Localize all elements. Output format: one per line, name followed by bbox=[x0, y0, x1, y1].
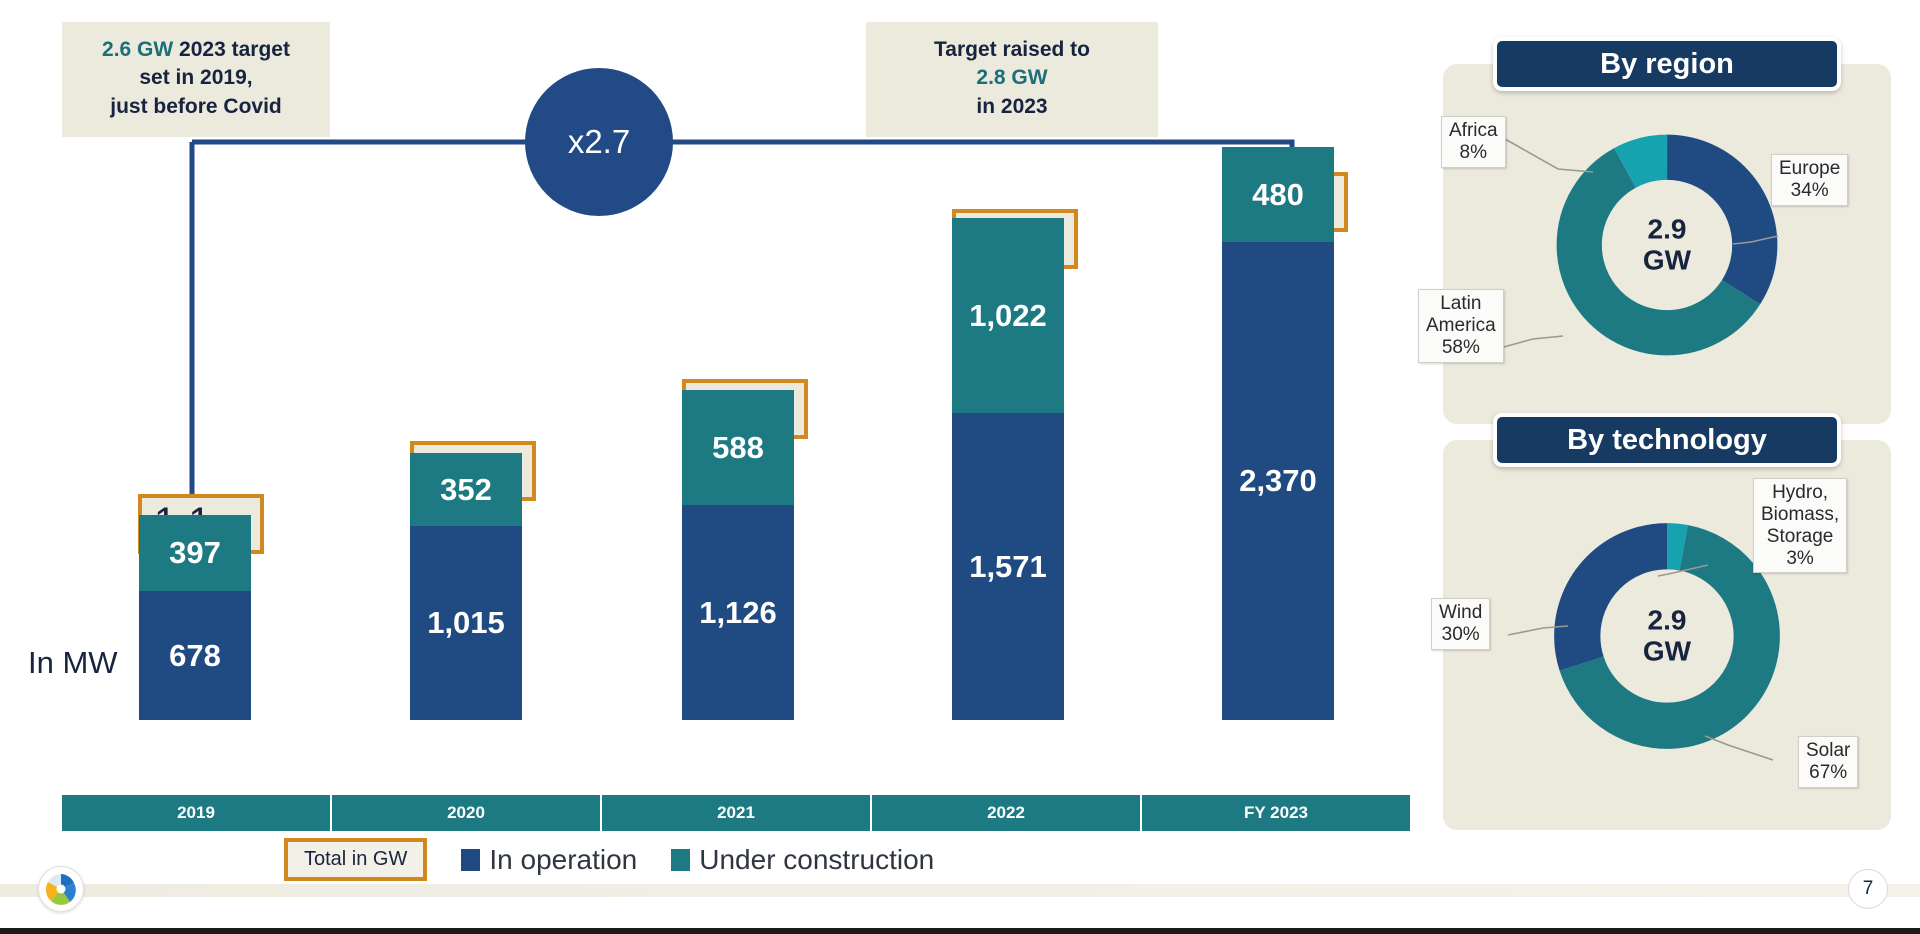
callout-hydro-biomass-storage: Hydro, Biomass, Storage 3% bbox=[1753, 478, 1847, 573]
bar-label-op-2022: 1,571 bbox=[969, 549, 1047, 585]
x-axis-tick-2019: 2019 bbox=[62, 795, 332, 831]
callout-europe-label: Europe bbox=[1779, 158, 1840, 180]
bar-segment-under-construction-2022[interactable]: 1,022 bbox=[952, 218, 1064, 413]
panel-title-by-region: By region bbox=[1493, 37, 1841, 91]
bar-label-op-2019: 678 bbox=[169, 638, 221, 674]
donut-tech-center: 2.9 GW bbox=[1643, 605, 1691, 668]
bar-label-uc-2022: 1,022 bbox=[969, 298, 1047, 334]
footer-bar bbox=[0, 884, 1920, 897]
x-axis-tick-2021: 2021 bbox=[602, 795, 872, 831]
bottom-edge bbox=[0, 928, 1920, 934]
donut-chart-by-region: 2.9 GW bbox=[1534, 112, 1800, 378]
x-axis-tick-fy2023: FY 2023 bbox=[1142, 795, 1410, 831]
bar-label-uc-fy2023: 480 bbox=[1252, 177, 1304, 213]
bar-segment-in-operation-2021[interactable]: 1,126 bbox=[682, 505, 794, 720]
callout-europe: Europe 34% bbox=[1771, 154, 1848, 206]
callout-europe-pct: 34% bbox=[1779, 180, 1840, 202]
bar-segment-in-operation-2020[interactable]: 1,015 bbox=[410, 526, 522, 720]
callout-wind: Wind 30% bbox=[1431, 598, 1490, 650]
donut-region-center: 2.9 GW bbox=[1643, 214, 1691, 277]
bar-stack-fy2023[interactable]: 480 2,370 bbox=[1222, 147, 1334, 720]
callout-africa-pct: 8% bbox=[1449, 142, 1498, 164]
callout-solar-label: Solar bbox=[1806, 740, 1850, 762]
bar-segment-in-operation-2022[interactable]: 1,571 bbox=[952, 413, 1064, 720]
callout-wind-label: Wind bbox=[1439, 602, 1482, 624]
bar-label-uc-2019: 397 bbox=[169, 535, 221, 571]
bar-stack-2021[interactable]: 588 1,126 bbox=[682, 390, 794, 720]
total-in-gw-chip: Total in GW bbox=[284, 838, 427, 881]
bar-segment-in-operation-fy2023[interactable]: 2,370 bbox=[1222, 242, 1334, 720]
bar-stack-2019[interactable]: 397 678 bbox=[139, 515, 251, 720]
callout-africa: Africa 8% bbox=[1441, 116, 1506, 168]
legend-label-under-construction: Under construction bbox=[699, 844, 934, 876]
bar-stack-2022[interactable]: 1,022 1,571 bbox=[952, 218, 1064, 720]
page-number: 7 bbox=[1848, 869, 1888, 909]
x-axis-band: 2019 2020 2021 2022 FY 2023 bbox=[62, 795, 1410, 831]
callout-hydro-l2: Biomass, bbox=[1761, 504, 1839, 526]
x-axis-tick-2020: 2020 bbox=[332, 795, 602, 831]
panel-by-region: By region 2.9 GW Africa 8% bbox=[1443, 64, 1891, 424]
bar-segment-under-construction-2020[interactable]: 352 bbox=[410, 453, 522, 526]
bar-segment-under-construction-2019[interactable]: 397 bbox=[139, 515, 251, 591]
donut-region-center-unit: GW bbox=[1643, 245, 1691, 276]
callout-hydro-l3: Storage bbox=[1761, 526, 1839, 548]
logo-icon bbox=[39, 867, 83, 911]
company-logo bbox=[38, 866, 84, 912]
bar-label-op-2021: 1,126 bbox=[699, 595, 777, 631]
legend-item-in-operation[interactable]: In operation bbox=[461, 844, 637, 876]
bar-stack-2020[interactable]: 352 1,015 bbox=[410, 453, 522, 720]
donut-tech-center-value: 2.9 bbox=[1643, 605, 1691, 636]
slide-root: 2.6 GW 2023 target set in 2019, just bef… bbox=[0, 0, 1920, 934]
callout-solar: Solar 67% bbox=[1798, 736, 1858, 788]
callout-solar-pct: 67% bbox=[1806, 762, 1850, 784]
bar-label-uc-2021: 588 bbox=[712, 430, 764, 466]
legend-label-in-operation: In operation bbox=[489, 844, 637, 876]
x-axis-tick-2022: 2022 bbox=[872, 795, 1142, 831]
callout-hydro-pct: 3% bbox=[1761, 548, 1839, 570]
callout-latam-label1: Latin bbox=[1426, 293, 1496, 315]
bar-segment-under-construction-fy2023[interactable]: 480 bbox=[1222, 147, 1334, 242]
legend-item-under-construction[interactable]: Under construction bbox=[671, 844, 934, 876]
panel-title-by-technology: By technology bbox=[1493, 413, 1841, 467]
callout-latam-label2: America bbox=[1426, 315, 1496, 337]
bar-chart: In MW 1.1 GW 397 678 1.4 GW 352 1,015 1.… bbox=[0, 0, 1430, 860]
donut-tech-center-unit: GW bbox=[1643, 636, 1691, 667]
bar-segment-in-operation-2019[interactable]: 678 bbox=[139, 591, 251, 720]
callout-latam-pct: 58% bbox=[1426, 337, 1496, 359]
panel-by-technology: By technology 2.9 GW Wind 30% bbox=[1443, 440, 1891, 830]
bar-label-op-fy2023: 2,370 bbox=[1239, 463, 1317, 499]
bar-label-op-2020: 1,015 bbox=[427, 605, 505, 641]
chart-legend: Total in GW In operation Under construct… bbox=[284, 838, 934, 881]
callout-africa-label: Africa bbox=[1449, 120, 1498, 142]
callout-latin-america: Latin America 58% bbox=[1418, 289, 1504, 363]
bar-label-uc-2020: 352 bbox=[440, 472, 492, 508]
legend-swatch-in-operation bbox=[461, 849, 480, 871]
bar-segment-under-construction-2021[interactable]: 588 bbox=[682, 390, 794, 505]
axis-unit-label: In MW bbox=[28, 645, 118, 681]
callout-wind-pct: 30% bbox=[1439, 624, 1482, 646]
donut-region-center-value: 2.9 bbox=[1643, 214, 1691, 245]
callout-hydro-l1: Hydro, bbox=[1761, 482, 1839, 504]
legend-swatch-under-construction bbox=[671, 849, 690, 871]
